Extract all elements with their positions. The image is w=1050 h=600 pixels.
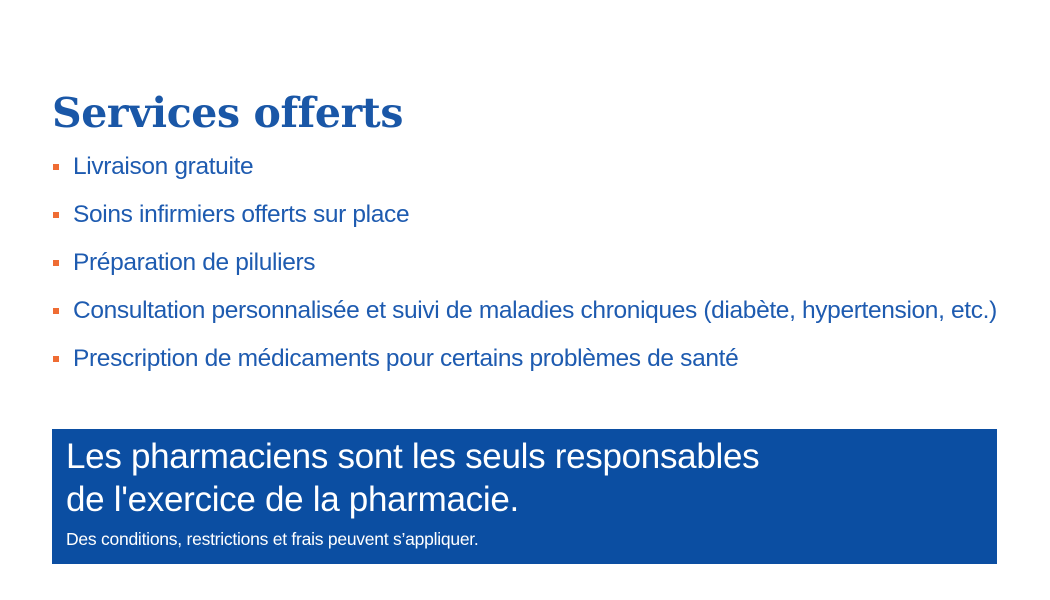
list-item: Soins infirmiers offerts sur place [52, 191, 1042, 239]
callout-headline-line-1: Les pharmaciens sont les seuls responsab… [66, 435, 976, 478]
list-item: Préparation de piluliers [52, 239, 1042, 287]
square-bullet-icon [53, 260, 59, 266]
disclaimer-callout-box: Les pharmaciens sont les seuls responsab… [52, 429, 997, 564]
services-bullet-list: Livraison gratuite Soins infirmiers offe… [52, 143, 1042, 383]
list-item: Consultation personnalisée et suivi de m… [52, 287, 1042, 335]
callout-fineprint: Des conditions, restrictions et frais pe… [66, 528, 976, 550]
square-bullet-icon [53, 164, 59, 170]
list-item-label: Soins infirmiers offerts sur place [73, 201, 409, 228]
square-bullet-icon [53, 308, 59, 314]
list-item-label: Livraison gratuite [73, 153, 253, 180]
list-item: Prescription de médicaments pour certain… [52, 335, 1042, 383]
slide-canvas: Services offerts Livraison gratuite Soin… [0, 0, 1050, 600]
list-item-label: Prescription de médicaments pour certain… [73, 345, 738, 372]
square-bullet-icon [53, 212, 59, 218]
callout-headline-line-2: de l'exercice de la pharmacie. [66, 478, 976, 521]
page-title: Services offerts [52, 89, 403, 137]
square-bullet-icon [53, 356, 59, 362]
list-item-label: Préparation de piluliers [73, 249, 315, 276]
list-item-label: Consultation personnalisée et suivi de m… [73, 297, 997, 324]
callout-headline: Les pharmaciens sont les seuls responsab… [66, 435, 976, 521]
list-item: Livraison gratuite [52, 143, 1042, 191]
